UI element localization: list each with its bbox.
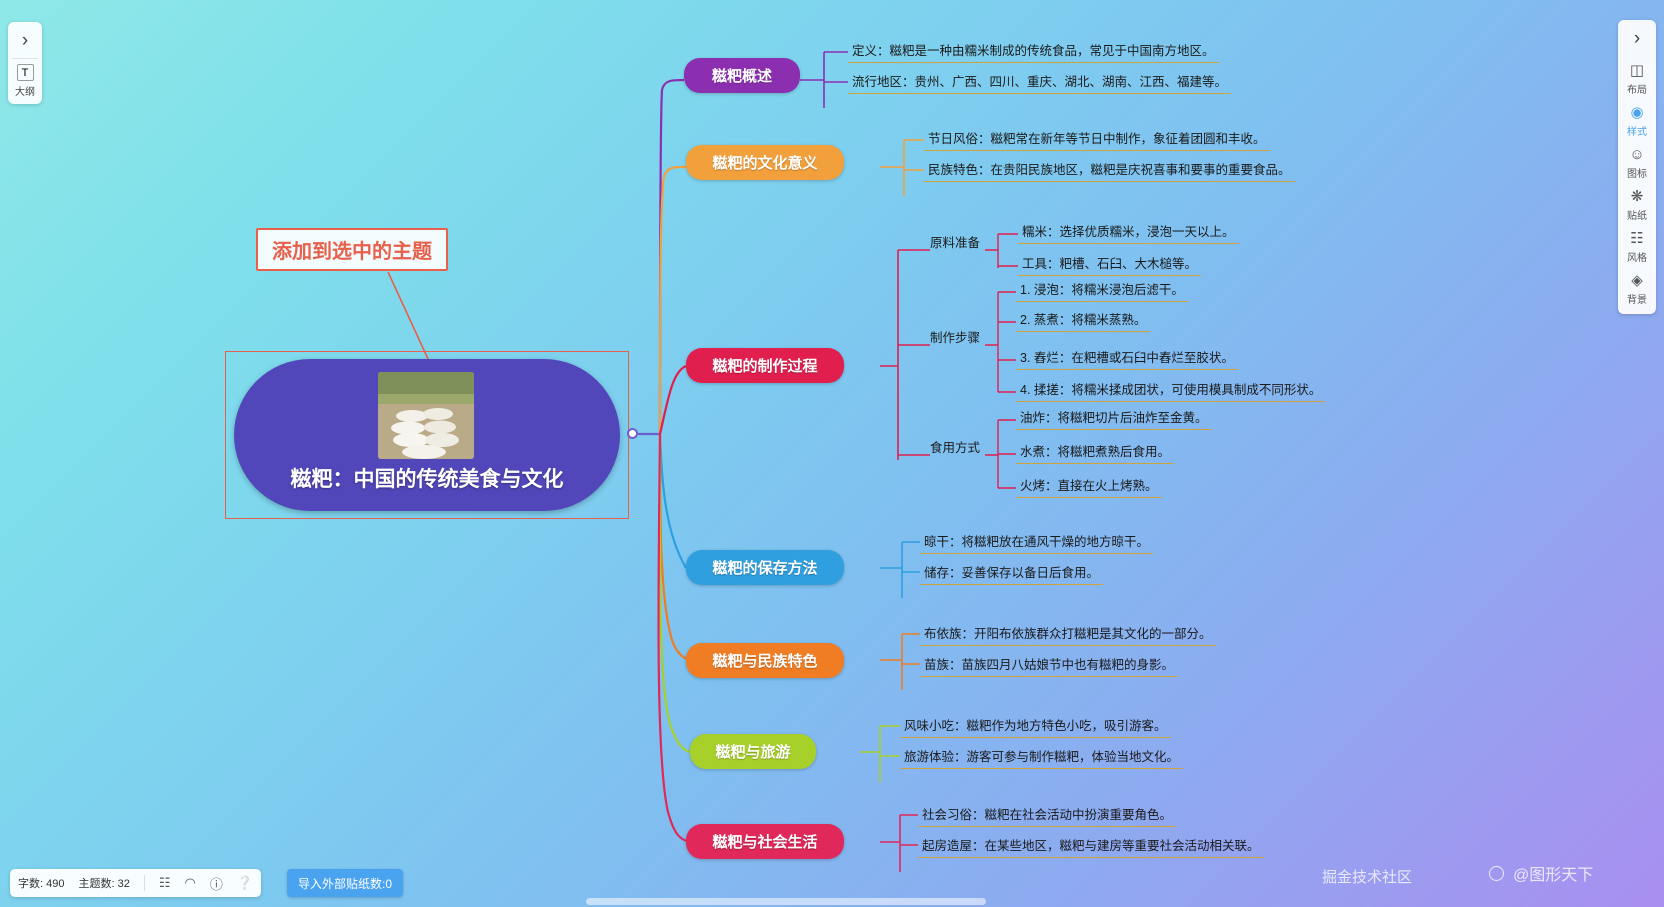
watermark-dot-icon (1489, 866, 1504, 881)
leaf-4-2[interactable]: 储存：妥善保存以备日后食用。 (920, 560, 1103, 585)
sticker-label: 贴纸 (1627, 207, 1647, 222)
center-collapse-handle[interactable] (627, 428, 638, 439)
sidebar-item-background[interactable]: ◈ 背景 (1618, 272, 1656, 306)
expand-right-panel-button[interactable]: › (1634, 24, 1640, 54)
style-label: 样式 (1627, 123, 1647, 138)
leaf-1-2[interactable]: 流行地区：贵州、广西、四川、重庆、湖北、湖南、江西、福建等。 (848, 69, 1231, 94)
branch-node-7[interactable]: 糍粑与社会生活 (686, 824, 844, 859)
topic-count-label: 主题数: 32 (78, 875, 129, 891)
watermark-left: 掘金技术社区 (1322, 866, 1412, 887)
leaf-7-1[interactable]: 社会习俗：糍粑在社会活动中扮演重要角色。 (918, 802, 1176, 827)
branch-node-3-label: 糍粑的制作过程 (712, 355, 817, 376)
style-icon: ◉ (1630, 104, 1643, 121)
leaf-5-1[interactable]: 布依族：开阳布依族群众打糍粑是其文化的一部分。 (920, 621, 1216, 646)
sidebar-item-layout[interactable]: ◫ 布局 (1618, 62, 1656, 96)
layout-label: 布局 (1627, 81, 1647, 96)
horizontal-scrollbar[interactable] (586, 898, 986, 905)
center-topic-image (378, 372, 474, 459)
leaf-3-2-4[interactable]: 4. 揉搓：将糯米揉成团状，可使用模具制成不同形状。 (1016, 377, 1325, 402)
branch-node-6-label: 糍粑与旅游 (715, 741, 790, 762)
branch-node-1[interactable]: 糍粑概述 (684, 58, 800, 93)
sidebar-item-style[interactable]: ◉ 样式 (1618, 104, 1656, 138)
outline-label: 大纲 (15, 83, 35, 98)
emoji-icon: ☺ (1629, 146, 1644, 163)
background-icon: ◈ (1631, 272, 1643, 289)
leaf-2-2[interactable]: 民族特色：在贵阳民族地区，糍粑是庆祝喜事和要事的重要食品。 (924, 157, 1295, 182)
watermark-right: @图形天下 (1513, 861, 1593, 885)
right-toolbar: › ◫ 布局 ◉ 样式 ☺ 图标 ❋ 贴纸 ☷ 风格 ◈ 背景 (1618, 20, 1656, 314)
branch-node-1-label: 糍粑概述 (712, 65, 772, 86)
leaf-3-1-1[interactable]: 糯米：选择优质糯米，浸泡一天以上。 (1018, 219, 1239, 244)
sidebar-item-sticker[interactable]: ❋ 贴纸 (1618, 188, 1656, 222)
leaf-7-2[interactable]: 起房造屋：在某些地区，糍粑与建房等重要社会活动相关联。 (918, 833, 1264, 858)
word-count-label: 字数: 490 (18, 875, 64, 891)
leaf-3-3-2[interactable]: 水煮：将糍粑煮熟后食用。 (1016, 439, 1174, 464)
subgroup-3-2-label[interactable]: 制作步骤 (930, 327, 980, 346)
leaf-3-3-3[interactable]: 火烤：直接在火上烤熟。 (1016, 473, 1162, 498)
leaf-3-1-2[interactable]: 工具：粑槽、石臼、大木槌等。 (1018, 251, 1201, 276)
divider (12, 58, 38, 59)
branch-node-2-label: 糍粑的文化意义 (712, 152, 817, 173)
leaf-3-2-2[interactable]: 2. 蒸煮：将糯米蒸熟。 (1016, 307, 1150, 332)
import-button-label: 导入外部贴纸数:0 (298, 875, 392, 892)
branch-node-4[interactable]: 糍粑的保存方法 (686, 550, 844, 585)
emoji-label: 图标 (1627, 165, 1647, 180)
sidebar-item-emoji[interactable]: ☺ 图标 (1618, 146, 1656, 180)
layout-icon: ◫ (1630, 62, 1644, 79)
ruler-icon[interactable]: ◠ (184, 875, 195, 891)
theme-label: 风格 (1627, 249, 1647, 264)
leaf-6-1[interactable]: 风味小吃：糍粑作为地方特色小吃，吸引游客。 (900, 713, 1171, 738)
callout-add-to-selected-topic: 添加到选中的主题 (256, 228, 448, 271)
theme-icon: ☷ (1630, 230, 1643, 247)
leaf-3-2-3[interactable]: 3. 舂烂：在粑槽或石臼中舂烂至胶状。 (1016, 345, 1238, 370)
leaf-5-2[interactable]: 苗族：苗族四月八姑娘节中也有糍粑的身影。 (920, 652, 1178, 677)
branch-node-2[interactable]: 糍粑的文化意义 (686, 145, 844, 180)
subgroup-3-1-label[interactable]: 原料准备 (930, 232, 980, 251)
branch-node-7-label: 糍粑与社会生活 (712, 831, 817, 852)
divider (144, 875, 145, 891)
subgroup-3-3-label[interactable]: 食用方式 (930, 437, 980, 456)
center-topic-title: 糍粑：中国的传统美食与文化 (291, 463, 564, 493)
status-bar: 字数: 490 主题数: 32 ☷ ◠ ⓘ ❔ (10, 869, 261, 897)
branch-node-5[interactable]: 糍粑与民族特色 (686, 643, 844, 678)
outline-icon: T (17, 64, 34, 81)
branch-node-6[interactable]: 糍粑与旅游 (690, 734, 816, 769)
expand-left-panel-button[interactable]: › (22, 26, 28, 56)
leaf-3-2-1[interactable]: 1. 浸泡：将糯米浸泡后滤干。 (1016, 277, 1188, 302)
branch-node-3[interactable]: 糍粑的制作过程 (686, 348, 844, 383)
board-icon[interactable]: ☷ (159, 875, 171, 891)
info-icon[interactable]: ⓘ (210, 874, 223, 893)
leaf-2-1[interactable]: 节日风俗：糍粑常在新年等节日中制作，象征着团圆和丰收。 (924, 126, 1270, 151)
callout-text: 添加到选中的主题 (272, 241, 432, 263)
sidebar-item-theme[interactable]: ☷ 风格 (1618, 230, 1656, 264)
leaf-6-2[interactable]: 旅游体验：游客可参与制作糍粑，体验当地文化。 (900, 744, 1183, 769)
background-label: 背景 (1627, 291, 1647, 306)
outline-button[interactable]: T 大纲 (15, 64, 35, 98)
leaf-3-3-1[interactable]: 油炸：将糍粑切片后油炸至金黄。 (1016, 405, 1212, 430)
sticker-icon: ❋ (1631, 188, 1644, 205)
branch-node-5-label: 糍粑与民族特色 (712, 650, 817, 671)
branch-node-4-label: 糍粑的保存方法 (712, 557, 817, 578)
leaf-1-1[interactable]: 定义：糍粑是一种由糯米制成的传统食品，常见于中国南方地区。 (848, 38, 1219, 63)
left-toolbar: › T 大纲 (8, 22, 42, 104)
leaf-4-1[interactable]: 晾干：将糍粑放在通风干燥的地方晾干。 (920, 529, 1153, 554)
import-external-stickers-button[interactable]: 导入外部贴纸数:0 (287, 869, 403, 897)
help-icon[interactable]: ❔ (237, 875, 253, 891)
